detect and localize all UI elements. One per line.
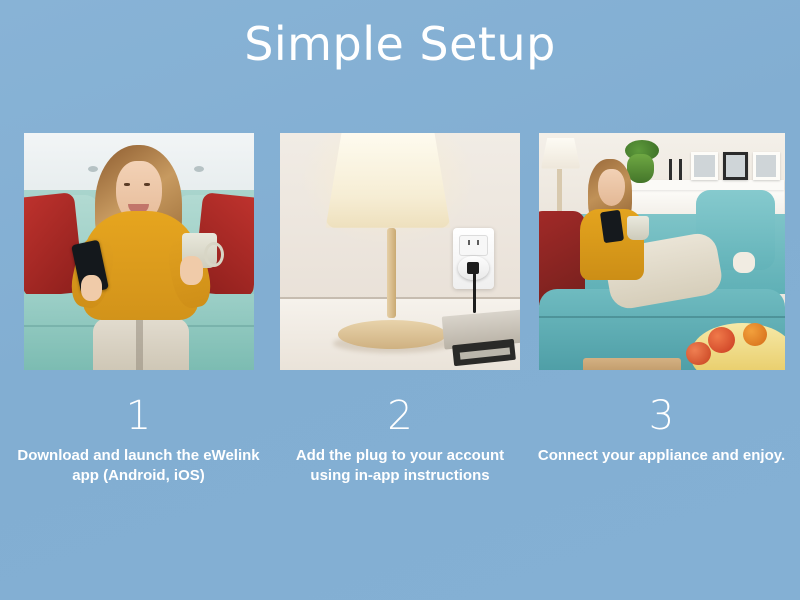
step-number: 3 [649,396,674,436]
steps-row: 1 Download and launch the eWelink app (A… [20,133,780,487]
page-title: Simple Setup [0,16,800,74]
lamp-shade [326,133,451,228]
person-eye [124,183,130,186]
picture-frame [691,152,718,180]
green-vase [627,154,654,182]
outlet-socket [459,235,488,256]
frame-photo [756,155,777,177]
power-cord [473,273,476,313]
person-face [598,169,625,207]
simple-setup-poster: Simple Setup [0,0,800,600]
lamp-wooden-base [338,320,446,348]
outlet-slot [477,240,479,245]
leg-separation [136,318,143,370]
picture-frame [753,152,780,180]
candle-holder [679,159,682,180]
person-hand-right [180,256,203,284]
photo-woman-with-phone-and-mug [24,133,254,370]
table-edge [280,297,520,299]
photo-woman-relaxing-on-sofa [539,133,785,370]
step-number: 2 [387,396,412,436]
lamp-wooden-stem [387,228,397,318]
photo-lamp-and-smart-plug [280,133,520,370]
setup-step-2: 2 Add the plug to your account using in-… [282,133,519,487]
coffee-mug [627,216,649,240]
wall-decor-dot [194,166,204,172]
mug-handle [204,242,224,267]
person-sock [733,252,755,273]
setup-step-1: 1 Download and launch the eWelink app (A… [20,133,257,487]
step-number: 1 [126,396,151,436]
candle-holder [669,159,672,180]
step-caption: Add the plug to your account using in-ap… [275,446,525,487]
person-eye [144,183,150,186]
person-hand-left [81,275,102,301]
frame-photo [726,155,745,177]
picture-frame [723,152,748,180]
frame-photo [694,155,715,177]
sofa-seam [539,316,785,318]
setup-step-3: 3 Connect your appliance and enjoy. [543,133,780,487]
step-caption: Connect your appliance and enjoy. [522,446,800,466]
floor-lamp-shade [541,138,580,169]
coffee-table [583,358,681,370]
outlet-slot [468,240,470,245]
step-caption: Download and launch the eWelink app (And… [14,446,264,487]
fruit [686,342,711,366]
